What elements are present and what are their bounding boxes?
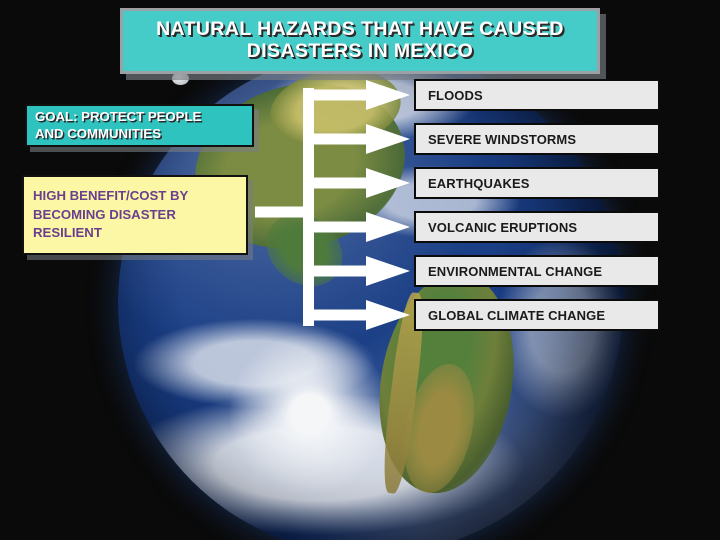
- title-line-1: NATURAL HAZARDS THAT HAVE CAUSED: [156, 18, 564, 40]
- hazard-box-environmental-change: ENVIRONMENTAL CHANGE: [414, 255, 660, 287]
- slide-title-text: NATURAL HAZARDS THAT HAVE CAUSED DISASTE…: [156, 19, 564, 63]
- slide-title-box: NATURAL HAZARDS THAT HAVE CAUSED DISASTE…: [120, 8, 600, 74]
- benefit-line-3: RESILIENT: [33, 225, 102, 240]
- hazard-box-earthquakes: EARTHQUAKES: [414, 167, 660, 199]
- hazard-box-severe-windstorms: SEVERE WINDSTORMS: [414, 123, 660, 155]
- hazard-box-volcanic-eruptions: VOLCANIC ERUPTIONS: [414, 211, 660, 243]
- hazard-label: ENVIRONMENTAL CHANGE: [428, 264, 602, 279]
- goal-line-1: GOAL: PROTECT PEOPLE: [35, 109, 201, 124]
- slide-canvas: NATURAL HAZARDS THAT HAVE CAUSED DISASTE…: [0, 0, 720, 540]
- title-line-2: DISASTERS IN MEXICO: [247, 40, 473, 62]
- hazard-label: SEVERE WINDSTORMS: [428, 132, 576, 147]
- goal-box: GOAL: PROTECT PEOPLE AND COMMUNITIES: [25, 104, 254, 147]
- hazard-box-floods: FLOODS: [414, 79, 660, 111]
- benefit-line-2: BECOMING DISASTER: [33, 207, 176, 222]
- benefit-cost-text: HIGH BENEFIT/COST BY BECOMING DISASTER R…: [33, 187, 188, 243]
- hazard-label: EARTHQUAKES: [428, 176, 530, 191]
- goal-box-text: GOAL: PROTECT PEOPLE AND COMMUNITIES: [35, 109, 201, 141]
- hazard-label: VOLCANIC ERUPTIONS: [428, 220, 577, 235]
- hazard-label: GLOBAL CLIMATE CHANGE: [428, 308, 605, 323]
- benefit-line-1: HIGH BENEFIT/COST BY: [33, 188, 188, 203]
- benefit-cost-box: HIGH BENEFIT/COST BY BECOMING DISASTER R…: [22, 175, 248, 255]
- goal-line-2: AND COMMUNITIES: [35, 126, 161, 141]
- hazard-box-global-climate-change: GLOBAL CLIMATE CHANGE: [414, 299, 660, 331]
- hazard-label: FLOODS: [428, 88, 483, 103]
